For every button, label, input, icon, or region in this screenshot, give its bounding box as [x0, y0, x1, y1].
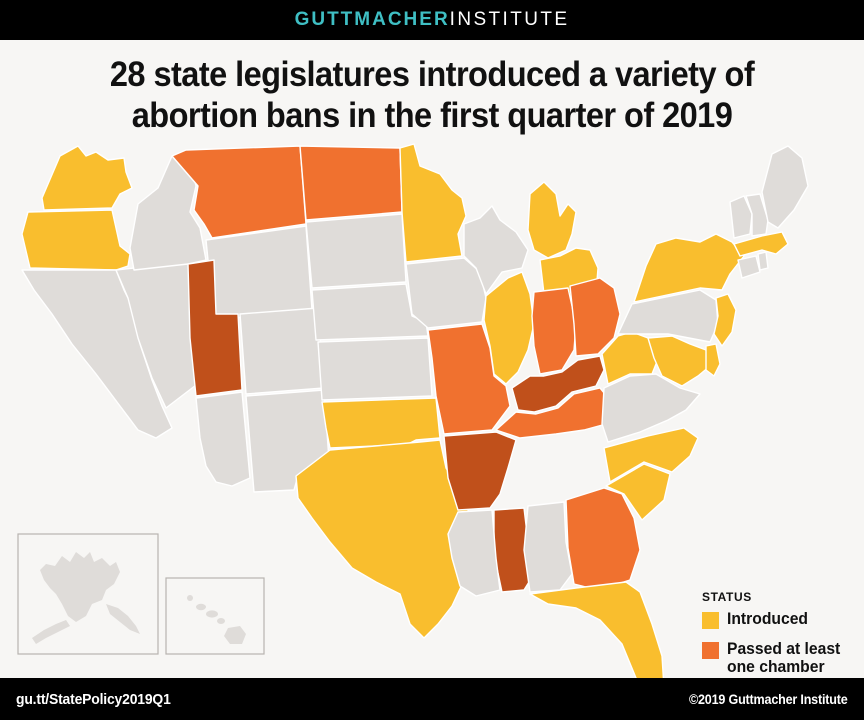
state-CO[interactable] — [240, 308, 324, 394]
guttmacher-institute-logo: GUTTMACHERINSTITUTE — [295, 9, 570, 31]
state-FL[interactable] — [530, 582, 664, 678]
legend-item-passed-one-chamber[interactable]: Passed at least one chamber — [702, 640, 860, 677]
state-ND[interactable] — [300, 146, 402, 220]
legend-title: STATUS — [702, 590, 860, 604]
legend-swatch-passed-one-chamber — [702, 642, 719, 659]
footer-bar: gu.tt/StatePolicy2019Q1 ©2019 Guttmacher… — [0, 678, 864, 720]
state-IA[interactable] — [406, 258, 486, 328]
state-DE[interactable] — [706, 344, 720, 376]
state-AK[interactable] — [40, 552, 120, 622]
legend-label-introduced: Introduced — [727, 610, 808, 628]
footer-copyright: ©2019 Guttmacher Institute — [689, 692, 848, 707]
state-GA[interactable] — [566, 488, 640, 590]
brand-header-bar: GUTTMACHERINSTITUTE — [0, 0, 864, 40]
legend-item-introduced[interactable]: Introduced — [702, 610, 860, 629]
state-NJ[interactable] — [714, 294, 736, 346]
logo-word-guttmacher: GUTTMACHER — [295, 9, 450, 30]
state-ME[interactable] — [762, 146, 808, 228]
state-MN[interactable] — [400, 144, 466, 262]
title-line-2: abortion bans in the first quarter of 20… — [51, 95, 814, 136]
state-AL[interactable] — [524, 502, 572, 592]
state-RI[interactable] — [758, 252, 768, 270]
state-AK-aleutians[interactable] — [32, 620, 70, 644]
state-OR[interactable] — [22, 210, 130, 270]
map-stage: STATUS Introduced Passed at least one ch… — [0, 138, 864, 678]
map-states — [22, 144, 808, 678]
state-SD[interactable] — [306, 214, 406, 288]
legend-label-passed-one-chamber: Passed at least one chamber — [727, 640, 853, 677]
page-title: 28 state legislatures introduced a varie… — [0, 40, 864, 137]
state-AK-panhandle[interactable] — [106, 604, 140, 634]
state-WY[interactable] — [206, 226, 312, 320]
footer-short-url[interactable]: gu.tt/StatePolicy2019Q1 — [16, 691, 171, 708]
state-CT[interactable] — [738, 256, 760, 278]
state-AR[interactable] — [444, 432, 516, 510]
logo-word-institute: INSTITUTE — [450, 9, 570, 30]
state-HI[interactable] — [187, 595, 246, 644]
title-line-1: 28 state legislatures introduced a varie… — [51, 54, 814, 95]
state-IN[interactable] — [532, 288, 576, 374]
state-MI[interactable] — [528, 182, 576, 258]
state-WA[interactable] — [42, 146, 132, 210]
state-KS[interactable] — [318, 338, 432, 400]
legend-swatch-introduced — [702, 612, 719, 629]
state-OK[interactable] — [322, 398, 440, 448]
state-AZ[interactable] — [196, 392, 250, 486]
state-PA[interactable] — [618, 290, 718, 342]
